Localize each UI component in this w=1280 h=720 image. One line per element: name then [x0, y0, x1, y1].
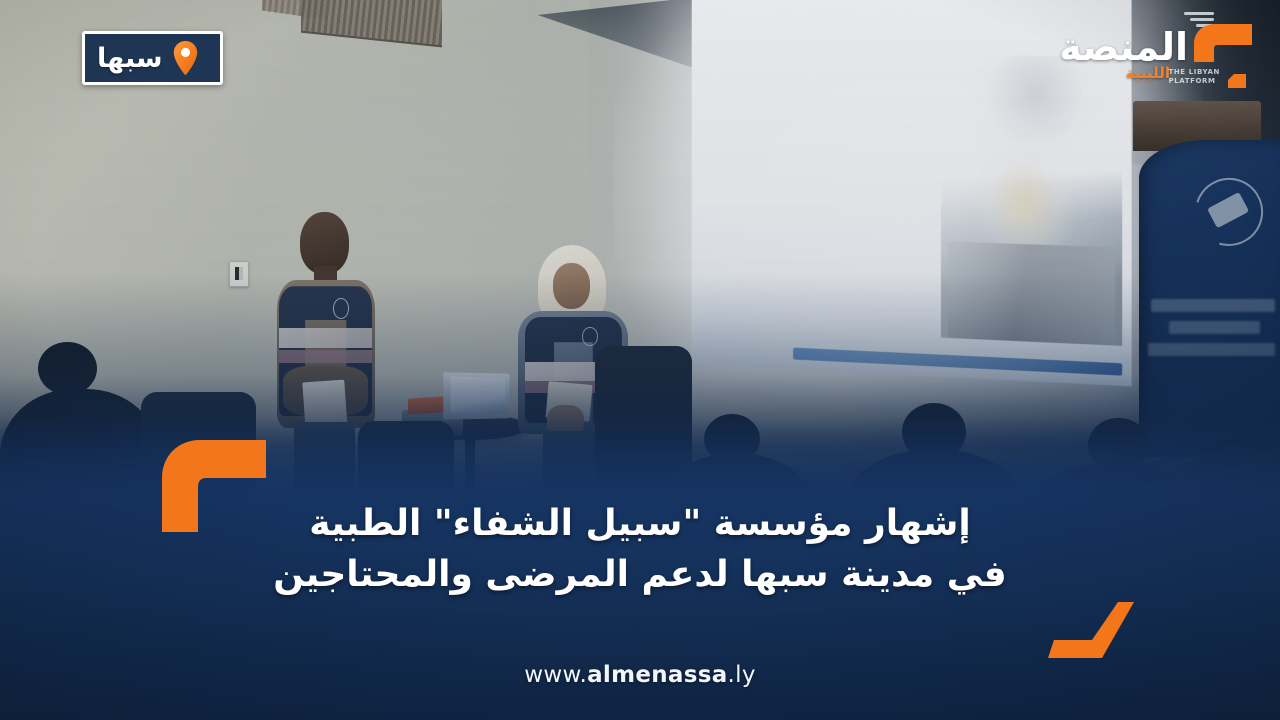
- location-badge[interactable]: سبها: [82, 31, 223, 85]
- channel-logo[interactable]: المنصة الليبية THE LIBYAN PLATFORM: [1066, 6, 1266, 102]
- logo-wordmark: المنصة: [1059, 28, 1188, 66]
- map-pin-icon: [173, 41, 198, 75]
- light-switch: [229, 261, 249, 287]
- website-url[interactable]: www.almenassa.ly: [0, 662, 1280, 688]
- vest-logo-badge: [333, 298, 349, 319]
- vest-logo-badge: [582, 327, 597, 346]
- banner-logo-icon: [1183, 166, 1275, 258]
- orange-bracket-bottom-right-icon: [1046, 600, 1138, 662]
- logo-subtitle-ar: الليبية: [1126, 66, 1170, 81]
- caption-line-1: إشهار مؤسسة "سبيل الشفاء" الطبية: [170, 498, 1110, 549]
- person-face: [553, 263, 590, 308]
- table-leg: [465, 436, 475, 501]
- rollup-banner: [1139, 140, 1280, 457]
- website-name: almenassa: [587, 662, 727, 688]
- banner-text-line: [1169, 321, 1260, 334]
- caption-line-2: في مدينة سبها لدعم المرضى والمحتاجين: [170, 549, 1110, 600]
- laptop-screen: [450, 377, 504, 413]
- projected-slide-bar: [793, 347, 1122, 375]
- news-card-frame: سبها المنصة الليبية THE LIBYAN PLATFORM …: [0, 0, 1280, 720]
- vest-stripe: [279, 350, 372, 363]
- logo-bracket-mark-icon: [1188, 18, 1260, 94]
- website-prefix: www.: [524, 662, 587, 688]
- banner-text-line: [1151, 299, 1275, 312]
- location-label: سبها: [97, 45, 163, 72]
- caption-block: إشهار مؤسسة "سبيل الشفاء" الطبية في مدين…: [0, 498, 1280, 600]
- laptop: [443, 372, 509, 420]
- banner-text-line: [1148, 343, 1275, 356]
- vest-stripe: [279, 328, 372, 349]
- website-tld: .ly: [728, 662, 756, 688]
